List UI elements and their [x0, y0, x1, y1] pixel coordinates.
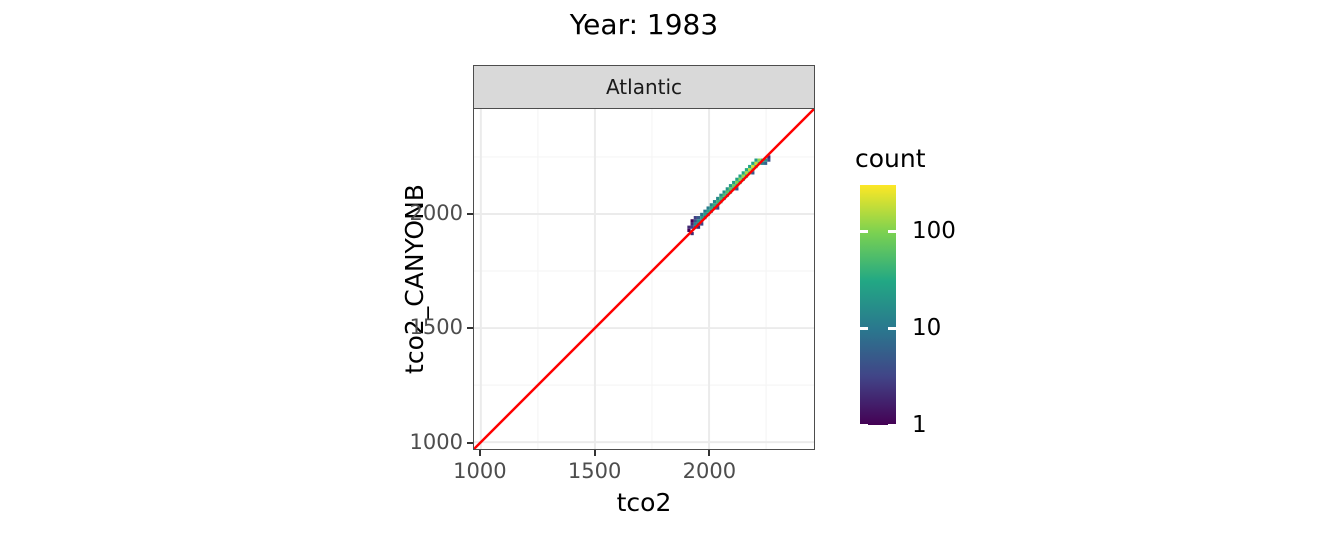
x-axis-title: tco2 [473, 488, 815, 517]
data-bin [707, 206, 710, 209]
page-title: Year: 1983 [473, 8, 815, 42]
legend-tick-mark [888, 230, 896, 233]
y-axis-tick-mark [467, 327, 473, 329]
data-bin [738, 174, 741, 177]
data-bin [716, 197, 719, 200]
data-bin [700, 213, 703, 216]
legend-tick-mark [888, 327, 896, 330]
legend-colorbar: 110100 [860, 185, 896, 425]
y-axis-tick-mark [467, 442, 473, 444]
data-bin [732, 181, 735, 184]
y-axis-tick-label: 1000 [343, 432, 463, 453]
data-bin [722, 190, 725, 193]
plot-panel [473, 108, 815, 450]
data-bin [687, 226, 690, 229]
y-axis-tick-label: 1500 [343, 317, 463, 338]
data-bin [710, 203, 713, 206]
data-bin [719, 194, 722, 197]
x-axis-tick-label: 1500 [545, 461, 645, 482]
plot-root: Year: 1983 Atlantic tco2_CANYONB tco2 10… [0, 0, 1344, 537]
legend-tick-label: 1 [912, 414, 927, 437]
x-axis-tick-label: 1000 [430, 461, 530, 482]
legend-tick-mark [888, 424, 896, 427]
data-bin [694, 216, 697, 219]
y-axis-tick-mark [467, 213, 473, 215]
legend-colorbar-gradient [860, 185, 896, 425]
facet-strip-label: Atlantic [606, 76, 682, 98]
data-bin [742, 171, 745, 174]
data-bin [735, 178, 738, 181]
data-bin [713, 200, 716, 203]
legend-tick-label: 10 [912, 317, 941, 340]
legend-tick-mark [860, 424, 868, 427]
x-axis-tick-mark [479, 450, 481, 456]
data-bin [767, 159, 770, 162]
data-bin [754, 159, 757, 162]
data-bin [764, 162, 767, 165]
data-bin [748, 165, 751, 168]
x-axis-tick-mark [708, 450, 710, 456]
reference-line [474, 109, 814, 449]
y-axis-title: tco2_CANYONB [400, 129, 429, 429]
data-bin [745, 168, 748, 171]
data-bin [697, 216, 700, 219]
data-bin [691, 219, 694, 222]
legend-tick-mark [860, 230, 868, 233]
y-axis-tick-label: 2000 [343, 203, 463, 224]
legend-gradient-rect [860, 185, 896, 425]
data-bin [726, 187, 729, 190]
data-bin [703, 210, 706, 213]
legend-tick-label: 100 [912, 220, 956, 243]
legend-title: count [855, 145, 926, 173]
data-bin [729, 184, 732, 187]
data-bin [694, 219, 697, 222]
data-bin [691, 222, 694, 225]
plot-canvas [474, 109, 814, 449]
x-axis-tick-mark [594, 450, 596, 456]
facet-strip: Atlantic [473, 65, 815, 109]
legend-tick-mark [860, 327, 868, 330]
x-axis-tick-label: 2000 [659, 461, 759, 482]
data-bin [751, 162, 754, 165]
